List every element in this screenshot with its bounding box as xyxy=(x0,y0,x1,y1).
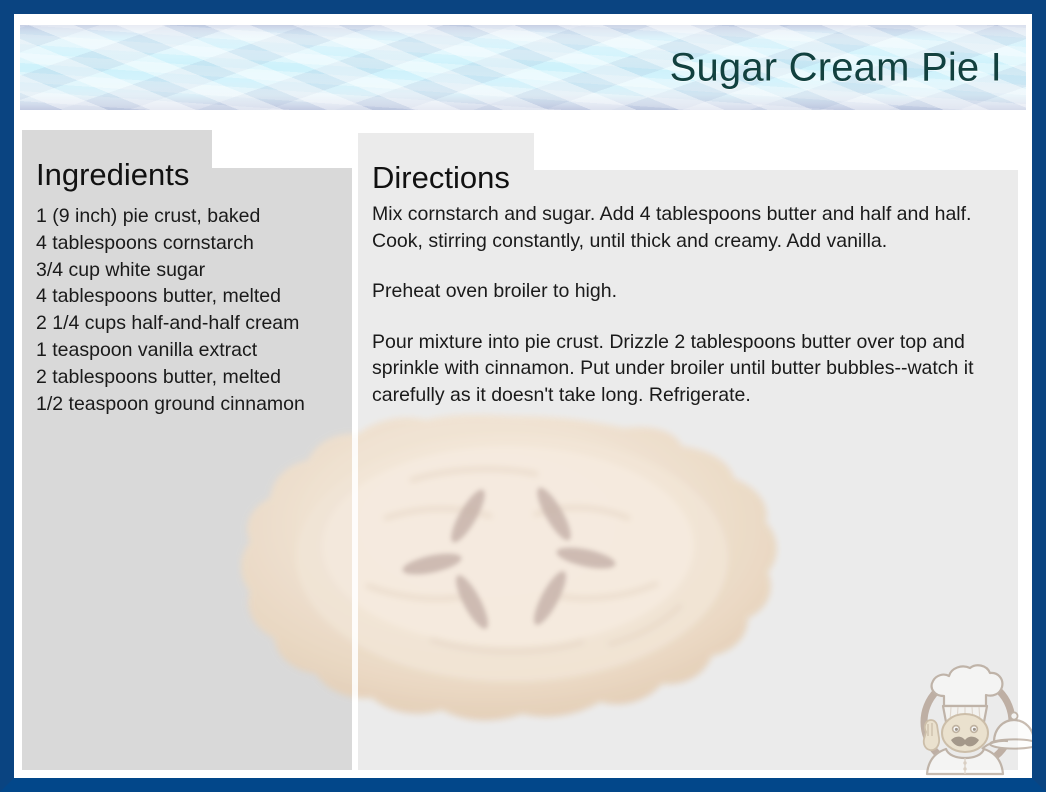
ingredients-list: 1 (9 inch) pie crust, baked 4 tablespoon… xyxy=(36,203,346,417)
directions-heading: Directions xyxy=(372,160,510,196)
direction-paragraph: Preheat oven broiler to high. xyxy=(372,278,1000,305)
page-title: Sugar Cream Pie I xyxy=(670,45,1002,90)
ingredient-item: 1 (9 inch) pie crust, baked xyxy=(36,203,346,230)
ingredient-item: 2 1/4 cups half-and-half cream xyxy=(36,310,346,337)
ingredient-item: 4 tablespoons cornstarch xyxy=(36,230,346,257)
ingredient-item: 2 tablespoons butter, melted xyxy=(36,364,346,391)
header-banner: Sugar Cream Pie I xyxy=(20,25,1026,110)
directions-panel: Directions Mix cornstarch and sugar. Add… xyxy=(358,133,1018,770)
panel-divider xyxy=(352,130,358,770)
ingredient-item: 1/2 teaspoon ground cinnamon xyxy=(36,391,346,418)
ingredient-item: 4 tablespoons butter, melted xyxy=(36,283,346,310)
direction-paragraph: Mix cornstarch and sugar. Add 4 tablespo… xyxy=(372,201,1000,254)
ingredients-tab-gap xyxy=(212,130,352,168)
ingredient-item: 3/4 cup white sugar xyxy=(36,257,346,284)
directions-tab-gap xyxy=(534,133,1018,170)
ingredient-item: 1 teaspoon vanilla extract xyxy=(36,337,346,364)
direction-paragraph: Pour mixture into pie crust. Drizzle 2 t… xyxy=(372,329,1000,409)
card-inner-surface: Sugar Cream Pie I xyxy=(14,14,1032,778)
directions-body: Mix cornstarch and sugar. Add 4 tablespo… xyxy=(372,201,1000,408)
ingredients-panel: Ingredients 1 (9 inch) pie crust, baked … xyxy=(22,130,352,770)
recipe-card: Sugar Cream Pie I xyxy=(0,0,1046,792)
ingredients-heading: Ingredients xyxy=(36,157,189,193)
